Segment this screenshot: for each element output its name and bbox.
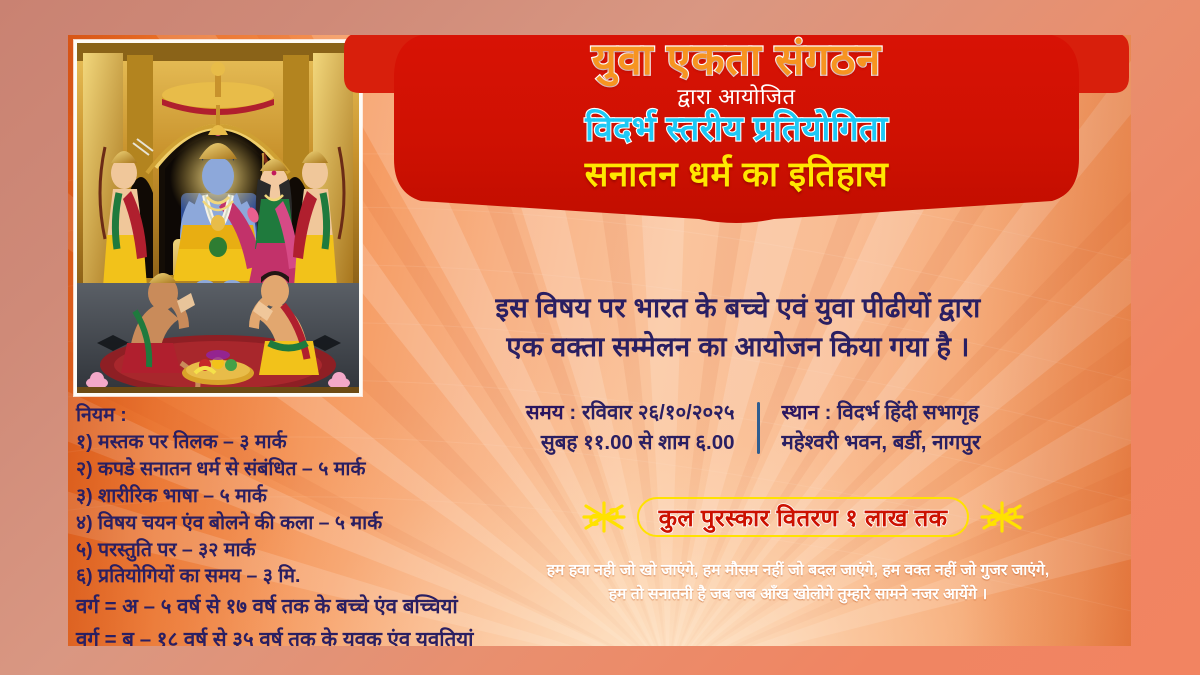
event-description: इस विषय पर भारत के बच्चे एवं युवा पीढीयो… <box>388 288 1088 366</box>
prize-text: कुल पुरस्कार वितरण १ लाख तक <box>659 501 948 534</box>
ram-darbar-image <box>74 40 362 396</box>
description-line-1: इस विषय पर भारत के बच्चे एवं युवा पीढीयो… <box>388 288 1088 327</box>
category-item: वर्ग = अ – ५ वर्ष से १७ वर्ष तक के बच्चे… <box>76 592 546 623</box>
venue-label: स्थान <box>782 401 819 424</box>
screenshot-canvas: युवा एकता संगठन द्वारा आयोजित विदर्भ स्त… <box>0 0 1200 675</box>
event-venue-block: स्थान : विदर्भ हिंदी सभागृह महेश्वरी भवन… <box>760 398 1097 457</box>
title-ribbon-banner <box>342 35 1131 251</box>
rule-item: ५) परस्तुति पर – ३२ मार्क <box>76 537 546 564</box>
poem-text: हम हवा नही जो खो जाएंगे, हम मौसम नहीं जो… <box>488 559 1108 606</box>
description-line-2: एक वक्ता सम्मेलन का आयोजन किया गया है । <box>388 327 1088 366</box>
venue-line-1: स्थान : विदर्भ हिंदी सभागृह <box>782 398 1097 428</box>
category-item: वर्ग = ब – १८ वर्ष से ३५ वर्ष तक के युवक… <box>76 625 546 646</box>
rules-section: नियम : १) मस्तक पर तिलक – ३ मार्क २) कपड… <box>76 402 546 646</box>
event-poster: युवा एकता संगठन द्वारा आयोजित विदर्भ स्त… <box>68 35 1131 646</box>
rule-item: १) मस्तक पर तिलक – ३ मार्क <box>76 429 546 456</box>
flourish-right-icon <box>979 500 1025 534</box>
venue-hall: विदर्भ हिंदी सभागृह <box>837 401 979 424</box>
rule-item: २) कपडे सनातन धर्म से संबंधित – ५ मार्क <box>76 456 546 483</box>
rule-item: ४) विषय चयन एंव बोलने की कला – ५ मार्क <box>76 510 546 537</box>
poem-line-1: हम हवा नही जो खो जाएंगे, हम मौसम नहीं जो… <box>488 559 1108 583</box>
prize-pill: कुल पुरस्कार वितरण १ लाख तक <box>637 497 970 537</box>
venue-line-2: महेश्वरी भवन, बर्डी, नागपुर <box>782 428 1097 458</box>
time-separator: : <box>569 401 576 424</box>
venue-separator: : <box>825 401 832 424</box>
ram-darbar-illustration <box>77 43 359 393</box>
time-date: रविवार २६/१०/२०२५ <box>582 401 735 424</box>
rule-item: ३) शारीरिक भाषा – ५ मार्क <box>76 483 546 510</box>
rule-item: ६) प्रतियोगियों का समय – ३ मि. <box>76 563 546 590</box>
rules-heading: नियम : <box>76 402 546 429</box>
prize-announcement: कुल पुरस्कार वितरण १ लाख तक <box>523 497 1083 537</box>
poem-line-2: हम तो सनातनी है जब जब आँख खोलोगे तुम्हार… <box>488 583 1108 607</box>
flourish-left-icon <box>581 500 627 534</box>
